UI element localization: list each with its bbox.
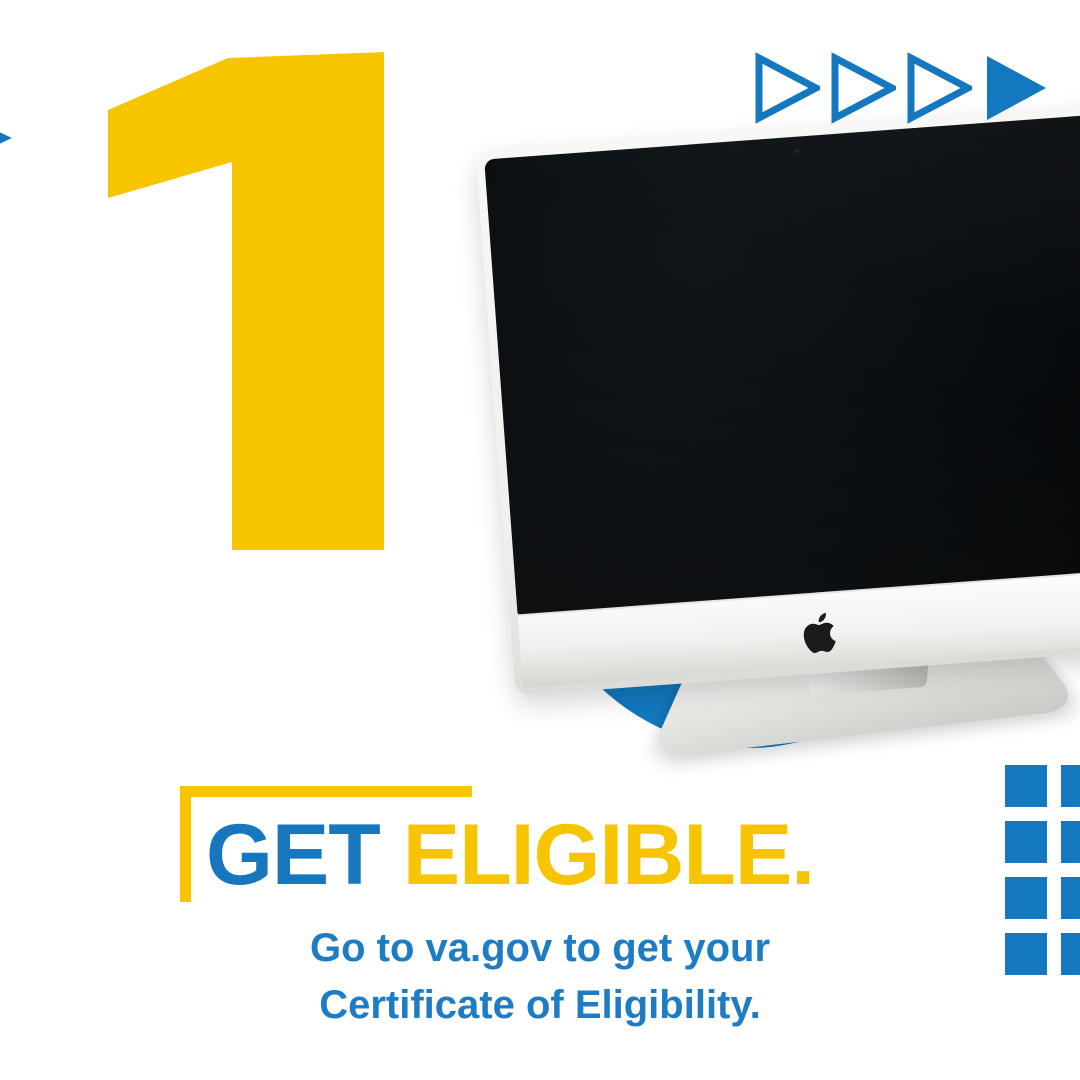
grid-square xyxy=(1005,821,1047,863)
arrow-outline-icon-2 xyxy=(828,52,896,124)
arrow-solid-icon-4 xyxy=(980,52,1048,124)
headline-part-get: GET xyxy=(206,807,380,903)
page-title: GET ELIGIBLE. xyxy=(206,812,814,898)
imac-screen xyxy=(484,114,1080,614)
step-number-one xyxy=(104,50,384,550)
grid-square xyxy=(1061,821,1080,863)
bracket-top-bar xyxy=(180,786,472,797)
headline-part-eligible: ELIGIBLE. xyxy=(403,807,814,903)
imac-computer xyxy=(476,105,1080,730)
grid-square xyxy=(1005,877,1047,919)
bracket-left-bar xyxy=(180,786,191,902)
subtitle-block: Go to va.gov to get your Certificate of … xyxy=(0,920,1080,1034)
subtitle-line-1: Go to va.gov to get your xyxy=(0,920,1080,977)
screen-sheen xyxy=(484,114,1080,614)
arrow-decoration-row xyxy=(752,52,1048,124)
arrow-outline-icon-3 xyxy=(904,52,972,124)
arrow-outline-icon-1 xyxy=(752,52,820,124)
poster-canvas: GET ELIGIBLE. Go to va.gov to get your C… xyxy=(0,0,1080,1080)
grid-square xyxy=(1005,765,1047,807)
apple-logo-icon xyxy=(798,607,846,660)
imac-body xyxy=(476,105,1080,695)
grid-square xyxy=(1061,877,1080,919)
grid-square xyxy=(1061,765,1080,807)
subtitle-line-2: Certificate of Eligibility. xyxy=(0,977,1080,1034)
edge-arrow-icon xyxy=(0,122,14,154)
